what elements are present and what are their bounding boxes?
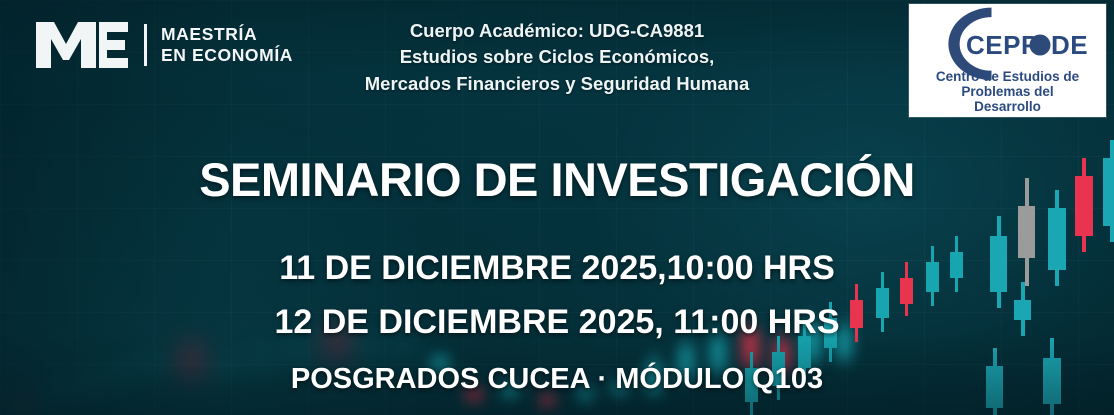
ceprode-caption-line3: Desarrollo [974,99,1041,114]
seminar-date-line-2: 12 DE DICIEMBRE 2025, 11:00 HRS [0,296,1114,350]
seminar-date-line-1: 11 DE DICIEMBRE 2025,10:00 HRS [0,242,1114,296]
seminar-dates: 11 DE DICIEMBRE 2025,10:00 HRS 12 DE DIC… [0,242,1114,349]
ceprode-caption-line1: Centro de Estudios de [936,69,1080,84]
ceprode-logo: CEPR DE Centro de Estudios de Problemas … [909,4,1106,117]
seminar-title: SEMINARIO DE INVESTIGACIÓN [0,152,1114,207]
seminar-banner: MAESTRÍA EN ECONOMÍA Cuerpo Académico: U… [0,0,1114,415]
ceprode-caption-line2: Problemas del [961,84,1053,99]
ceprode-wordmark-part1: CEPR [966,30,1040,60]
ceprode-wordmark-part2: DE [1051,30,1088,60]
seminar-venue: POSGRADOS CUCEA · MÓDULO Q103 [0,363,1114,396]
ceprode-o-dot [1030,35,1051,56]
